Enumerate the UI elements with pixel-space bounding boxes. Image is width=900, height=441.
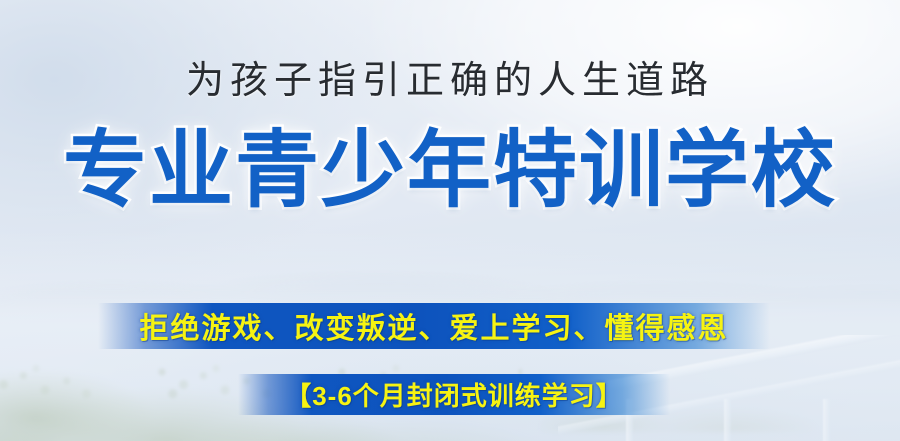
slogan-ribbon: 拒绝游戏、改变叛逆、爱上学习、懂得感恩 [98,303,770,349]
banner-headline: 为孩子指引正确的人生道路 [0,62,900,102]
banner-content: 为孩子指引正确的人生道路 专业青少年特训学校 拒绝游戏、改变叛逆、爱上学习、懂得… [0,0,900,441]
promo-banner: 为孩子指引正确的人生道路 专业青少年特训学校 拒绝游戏、改变叛逆、爱上学习、懂得… [0,0,900,441]
banner-title: 专业青少年特训学校 [0,128,900,212]
duration-text: 【3-6个月封闭式训练学习】 [285,376,623,413]
duration-ribbon: 【3-6个月封闭式训练学习】 [238,374,670,415]
slogan-text: 拒绝游戏、改变叛逆、爱上学习、懂得感恩 [139,305,728,347]
